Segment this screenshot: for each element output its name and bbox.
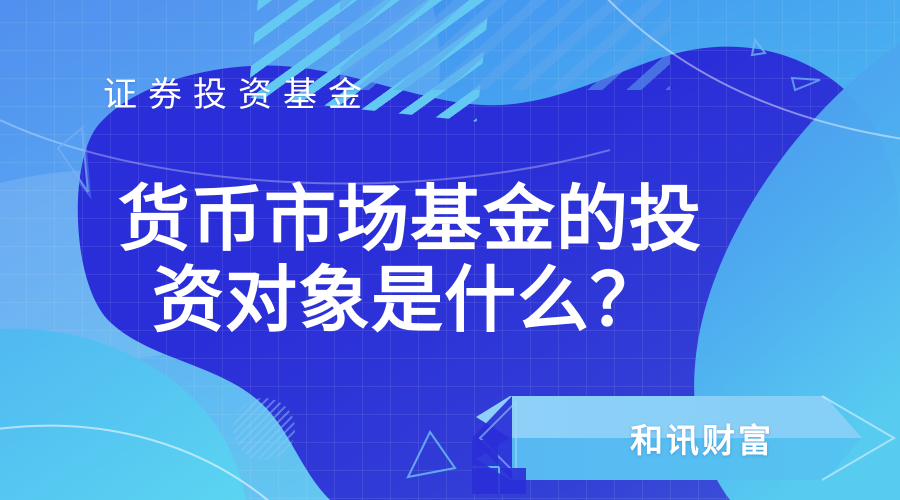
brand-badge[interactable]: 和讯财富 <box>470 392 900 484</box>
poster-subtitle: 证券投资基金 <box>103 78 373 112</box>
halftone-circle-icon <box>233 398 295 460</box>
poster-canvas: 和讯财富 证券投资基金 货币市场基金的投 资对象是什么？ <box>0 0 900 500</box>
poster-title-line-2: 资对象是什么？ <box>118 261 758 342</box>
badge-label: 和讯财富 <box>470 392 900 484</box>
diagonal-stripe-fan-secondary <box>340 0 670 90</box>
poster-title: 货币市场基金的投 资对象是什么？ <box>118 180 758 343</box>
poster-title-line-1: 货币市场基金的投 <box>118 180 758 261</box>
